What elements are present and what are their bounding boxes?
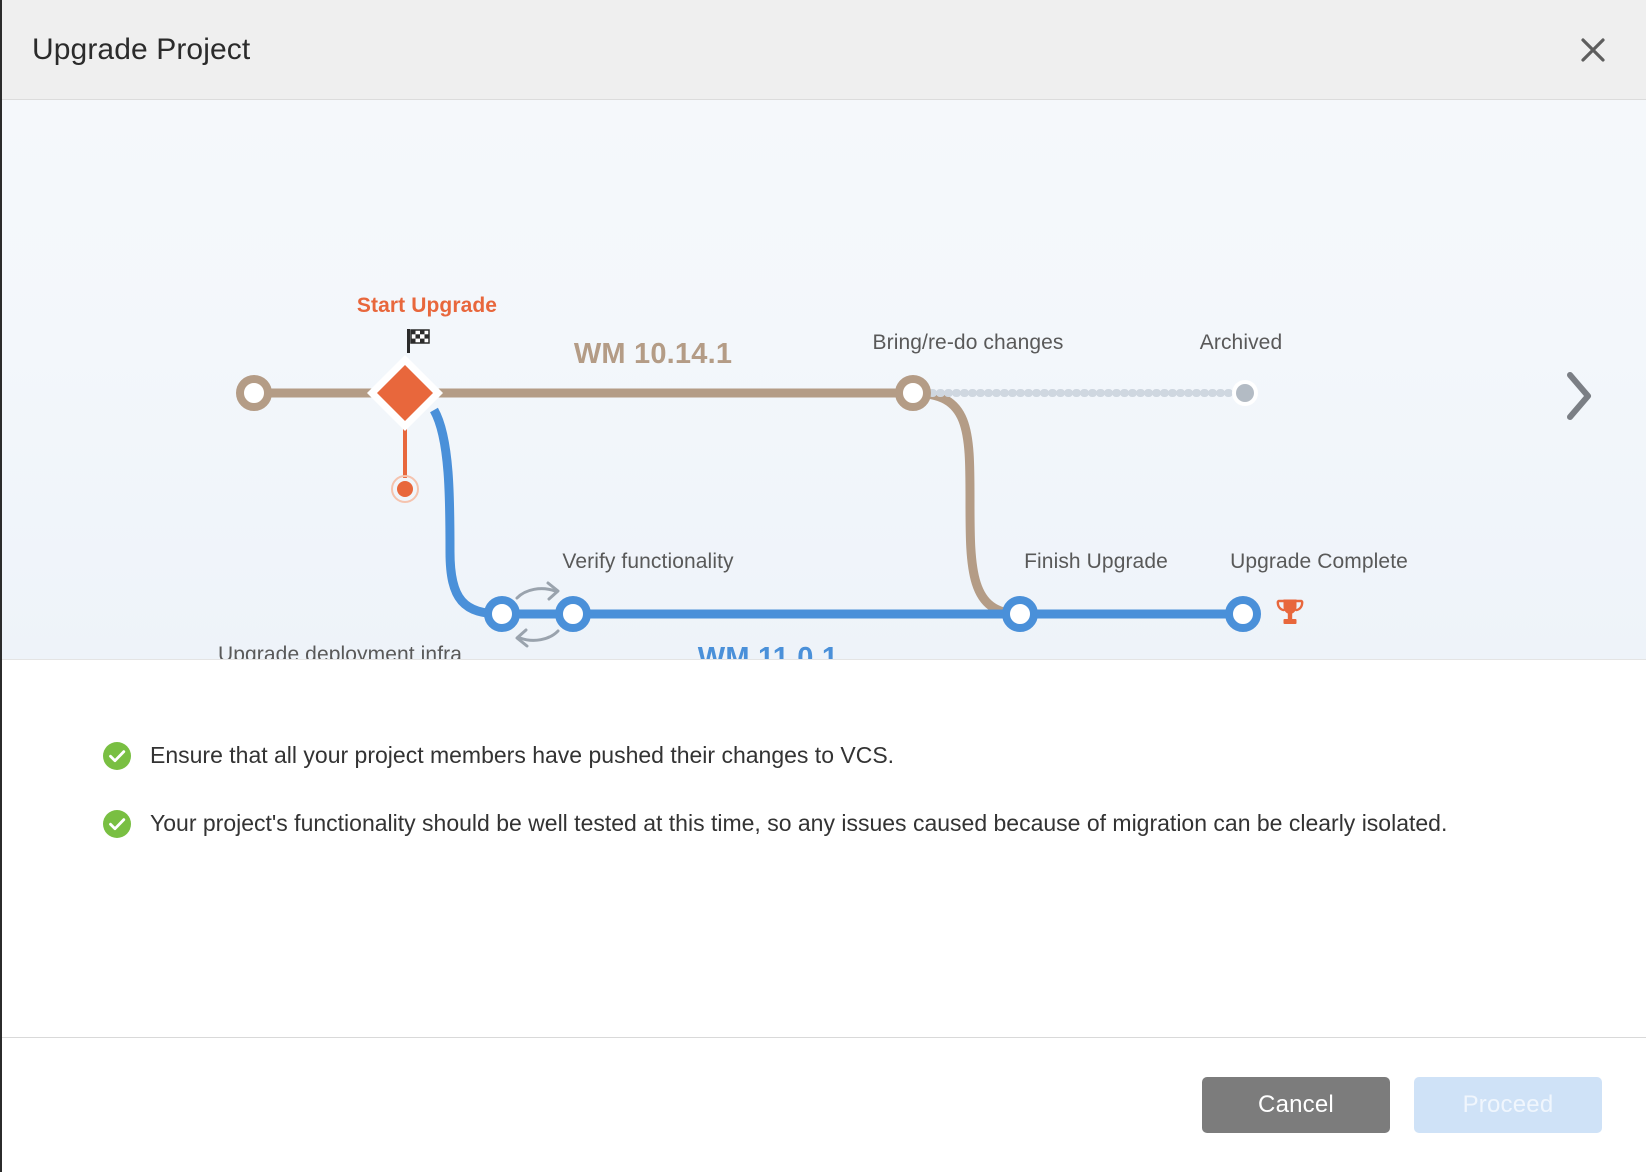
- chevron-right-icon: [1558, 369, 1598, 428]
- label-finish-upgrade: Finish Upgrade: [1024, 550, 1168, 574]
- edge-start-to-infra: [434, 410, 502, 614]
- node-origin: [240, 379, 268, 407]
- label-upgrade-complete: Upgrade Complete: [1230, 550, 1408, 574]
- label-archived: Archived: [1200, 331, 1283, 355]
- checklist-item-text: Ensure that all your project members hav…: [150, 738, 894, 774]
- check-circle-icon: [102, 809, 132, 844]
- node-verify: [559, 600, 587, 628]
- version-label-old: WM 10.14.1: [574, 338, 732, 371]
- label-verify-functionality: Verify functionality: [562, 550, 733, 574]
- label-start-upgrade: Start Upgrade: [357, 294, 497, 318]
- next-slide-button[interactable]: [1548, 368, 1608, 428]
- cancel-button[interactable]: Cancel: [1202, 1077, 1390, 1133]
- dangle-dot: [397, 481, 413, 497]
- node-archived: [1236, 384, 1254, 402]
- dialog-title: Upgrade Project: [32, 33, 250, 67]
- trophy-icon: [1273, 596, 1307, 635]
- node-finish-upgrade: [1006, 600, 1034, 628]
- close-button[interactable]: [1570, 27, 1616, 73]
- node-bring-redo: [899, 379, 927, 407]
- label-upgrade-deployment-infra: Upgrade deployment infra: [218, 643, 462, 660]
- label-bring-redo-changes: Bring/re-do changes: [872, 331, 1063, 355]
- version-label-new: WM 11.0.1: [698, 642, 838, 660]
- checklist-section: Ensure that all your project members hav…: [2, 660, 1646, 1037]
- edge-old-to-finish: [913, 393, 1020, 614]
- checklist-item: Ensure that all your project members hav…: [102, 738, 1546, 776]
- diagram-canvas: [2, 100, 1646, 660]
- close-icon: [1578, 35, 1608, 65]
- checklist-item-text: Your project's functionality should be w…: [150, 806, 1447, 842]
- proceed-button[interactable]: Proceed: [1414, 1077, 1602, 1133]
- upgrade-flow-diagram: Start Upgrade WM 10.14.1 Bring/re-do cha…: [2, 100, 1646, 660]
- dialog-footer: Cancel Proceed: [2, 1037, 1646, 1172]
- node-upgrade-infra: [488, 600, 516, 628]
- check-circle-icon: [102, 741, 132, 776]
- checkered-flag-icon: [405, 328, 433, 358]
- checklist-item: Your project's functionality should be w…: [102, 806, 1546, 844]
- dialog-header: Upgrade Project: [2, 0, 1646, 100]
- upgrade-project-dialog: Upgrade Project: [0, 0, 1646, 1172]
- node-upgrade-complete: [1229, 600, 1257, 628]
- node-start-upgrade: [367, 355, 443, 431]
